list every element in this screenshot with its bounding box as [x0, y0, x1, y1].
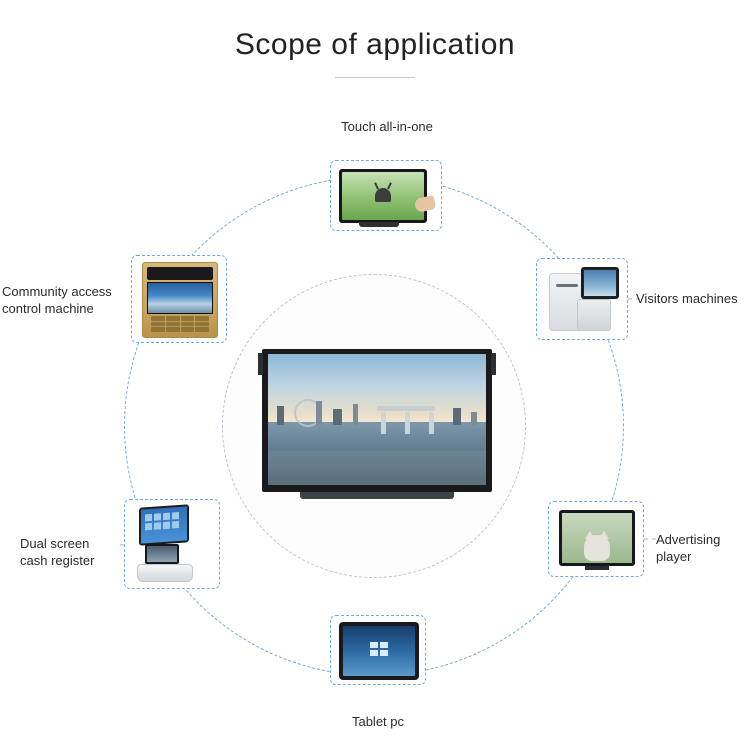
secondary-display — [145, 544, 179, 564]
android-icon — [375, 188, 391, 202]
device-screen — [342, 172, 424, 220]
device-screen — [562, 513, 632, 563]
device-screen — [141, 506, 187, 543]
center-lcd-panel — [262, 349, 492, 501]
node-touch-all-in-one[interactable] — [330, 160, 442, 231]
marina-sky-park — [377, 406, 435, 411]
node-visitors-machines[interactable] — [536, 258, 628, 340]
water-reflection — [268, 451, 486, 485]
label-dual-screen-cash-register: Dual screen cash register — [20, 535, 130, 569]
hand-icon — [414, 195, 436, 213]
device-stand — [359, 222, 399, 227]
node-community-access-control-machine[interactable] — [131, 255, 227, 343]
label-touch-all-in-one: Touch all-in-one — [312, 118, 462, 135]
lcd-tab-left — [258, 353, 263, 375]
title-divider — [335, 77, 415, 78]
label-line-1: Community access — [2, 283, 132, 300]
lcd-stand — [300, 492, 454, 499]
skyline-tower — [453, 408, 461, 425]
marina-tower-leg — [381, 412, 386, 434]
marina-tower-leg — [405, 412, 410, 434]
label-line-1: Advertising — [656, 531, 748, 548]
node-advertising-player[interactable] — [548, 501, 644, 577]
node-tablet-pc[interactable] — [330, 615, 426, 685]
skyline-tower — [333, 409, 342, 425]
label-line-2: player — [656, 548, 748, 565]
card-slot — [556, 284, 578, 287]
kiosk-screen-housing — [581, 267, 619, 299]
lcd-screen-image — [268, 354, 486, 485]
page-title: Scope of application — [0, 28, 750, 62]
device-stand — [585, 566, 609, 570]
access-control-terminal — [142, 262, 218, 338]
windows-tiles-icon — [145, 512, 179, 530]
label-tablet-pc: Tablet pc — [328, 713, 428, 730]
lcd-bezel — [262, 349, 492, 492]
tablet-device — [339, 622, 419, 680]
camera-bar — [147, 267, 213, 280]
windows-logo-icon — [370, 642, 388, 656]
label-visitors-machines: Visitors machines — [636, 290, 750, 307]
device-screen — [584, 270, 616, 296]
digital-signage-player — [559, 510, 635, 566]
device-screen — [343, 626, 415, 676]
label-line-1: Dual screen — [20, 535, 130, 552]
diagram-canvas: Scope of application — [0, 0, 750, 750]
register-base — [137, 564, 193, 582]
keypad — [151, 316, 209, 332]
cat-image — [584, 535, 610, 561]
node-dual-screen-cash-register[interactable] — [124, 499, 220, 589]
label-community-access-control-machine: Community access control machine — [2, 283, 132, 317]
marina-tower-leg — [429, 412, 434, 434]
label-advertising-player: Advertising player — [656, 531, 748, 565]
kiosk-pedestal — [577, 299, 611, 331]
device-screen — [147, 546, 177, 562]
label-line-2: cash register — [20, 552, 130, 569]
touch-all-in-one-device — [339, 169, 427, 223]
skyline-tower — [471, 412, 477, 425]
label-line-2: control machine — [2, 300, 132, 317]
skyline-tower — [277, 406, 284, 424]
skyline-tower — [316, 401, 322, 425]
lcd-tab-right — [491, 353, 496, 375]
device-screen — [147, 282, 213, 314]
primary-display — [139, 504, 189, 545]
skyline-tower — [353, 404, 358, 425]
